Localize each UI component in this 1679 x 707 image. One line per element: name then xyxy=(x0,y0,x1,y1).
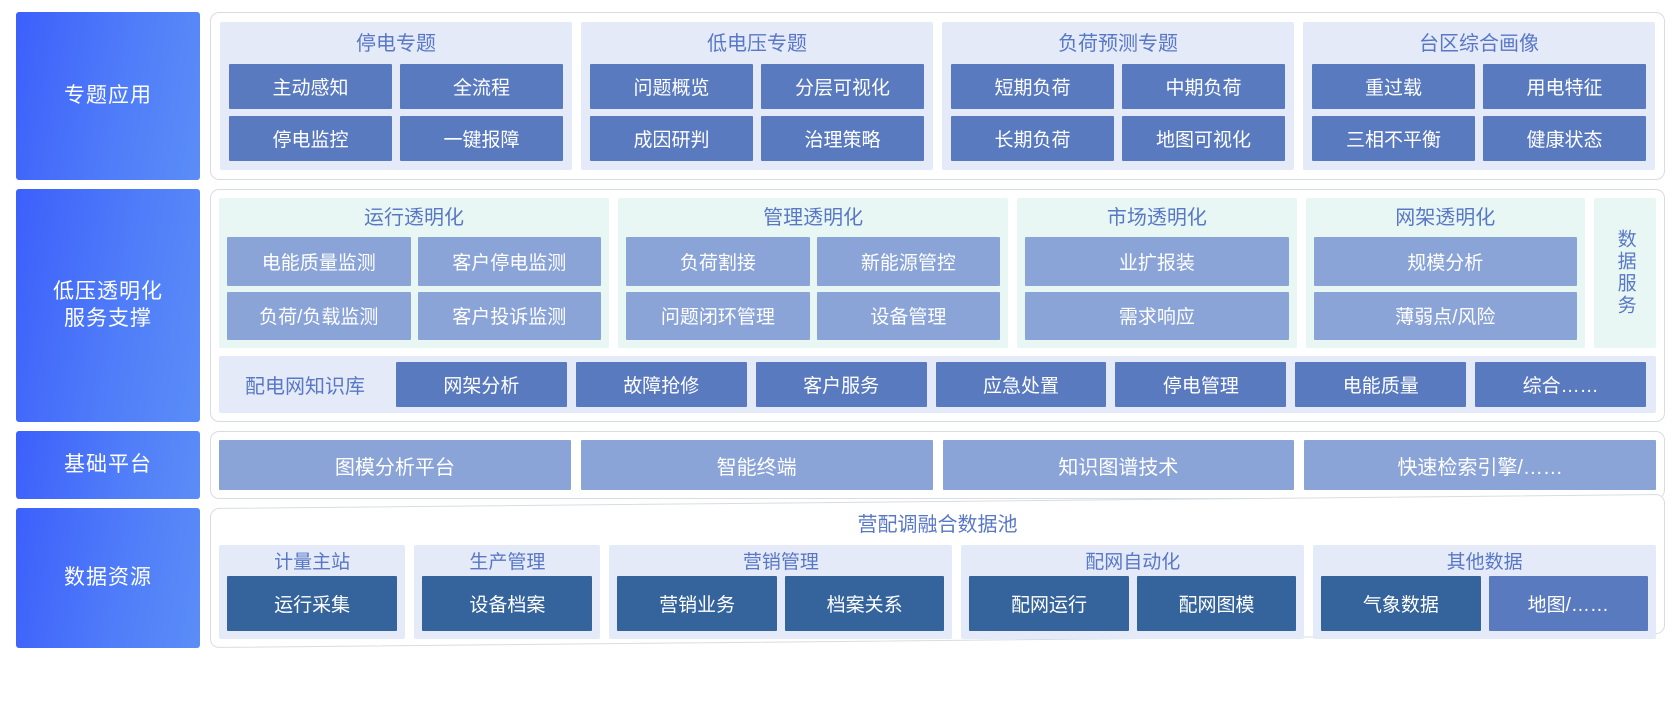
topic-tile[interactable]: 成因研判 xyxy=(590,116,753,161)
data-tile[interactable]: 档案关系 xyxy=(785,576,944,631)
transparency-group-title: 网架透明化 xyxy=(1314,203,1577,233)
transparency-tile[interactable]: 客户投诉监测 xyxy=(418,292,602,341)
data-tile[interactable]: 运行采集 xyxy=(227,576,397,631)
topic-tile-grid: 问题概览 分层可视化 成因研判 治理策略 xyxy=(590,64,924,161)
topic-tile-grid: 短期负荷 中期负荷 长期负荷 地图可视化 xyxy=(951,64,1285,161)
transparency-tile[interactable]: 需求响应 xyxy=(1025,292,1288,341)
transparency-tile-grid: 规模分析 薄弱点/风险 xyxy=(1314,237,1577,340)
layer-body-data-resource: 营配调融合数据池 计量主站 运行采集 生产管理 设备档案 xyxy=(210,508,1665,648)
knowledge-base-tile[interactable]: 客户服务 xyxy=(756,362,927,407)
transparency-tile[interactable]: 业扩报装 xyxy=(1025,237,1288,286)
topic-tile[interactable]: 一键报障 xyxy=(400,116,563,161)
data-group-marketing[interactable]: 营销管理 营销业务 档案关系 xyxy=(609,545,952,639)
transparency-group-title: 管理透明化 xyxy=(626,203,1000,233)
data-tile[interactable]: 配网图模 xyxy=(1137,576,1296,631)
data-group-title: 营销管理 xyxy=(617,549,944,576)
transparency-tile-grid: 业扩报装 需求响应 xyxy=(1025,237,1288,340)
knowledge-base-tile[interactable]: 故障抢修 xyxy=(576,362,747,407)
knowledge-base-tile[interactable]: 应急处置 xyxy=(936,362,1107,407)
data-tile[interactable]: 营销业务 xyxy=(617,576,776,631)
topic-tile[interactable]: 主动感知 xyxy=(229,64,392,109)
transparency-group-row: 运行透明化 电能质量监测 客户停电监测 负荷/负载监测 客户投诉监测 管理透明化… xyxy=(219,198,1656,348)
topic-tile[interactable]: 地图可视化 xyxy=(1122,116,1285,161)
knowledge-base-tile[interactable]: 电能质量 xyxy=(1295,362,1466,407)
architecture-diagram: 专题应用 停电专题 主动感知 全流程 停电监控 一键报障 低电压专题 问题概览 … xyxy=(0,0,1679,707)
data-tile-row: 营销业务 档案关系 xyxy=(617,576,944,631)
data-group-production[interactable]: 生产管理 设备档案 xyxy=(414,545,600,639)
data-tile-row: 气象数据 地图/…… xyxy=(1321,576,1648,631)
data-group-title: 配网自动化 xyxy=(969,549,1296,576)
data-tile[interactable]: 配网运行 xyxy=(969,576,1128,631)
layer-row-platform: 基础平台 图模分析平台 智能终端 知识图谱技术 快速检索引擎/…… xyxy=(16,431,1665,499)
layer-body-transparency-support: 运行透明化 电能质量监测 客户停电监测 负荷/负载监测 客户投诉监测 管理透明化… xyxy=(210,189,1665,422)
knowledge-base-row: 配电网知识库 网架分析 故障抢修 客户服务 应急处置 停电管理 电能质量 综合…… xyxy=(219,356,1656,413)
topic-tile-grid: 主动感知 全流程 停电监控 一键报障 xyxy=(229,64,563,161)
layer-label-topic-application: 专题应用 xyxy=(16,12,200,180)
transparency-group-grid-structure[interactable]: 网架透明化 规模分析 薄弱点/风险 xyxy=(1306,198,1585,348)
transparency-group-management[interactable]: 管理透明化 负荷割接 新能源管控 问题闭环管理 设备管理 xyxy=(618,198,1008,348)
topic-tile[interactable]: 中期负荷 xyxy=(1122,64,1285,109)
data-group-title: 其他数据 xyxy=(1321,549,1648,576)
knowledge-base-tile[interactable]: 网架分析 xyxy=(396,362,567,407)
transparency-group-market[interactable]: 市场透明化 业扩报装 需求响应 xyxy=(1017,198,1296,348)
platform-tile[interactable]: 快速检索引擎/…… xyxy=(1304,440,1656,490)
data-group-title: 生产管理 xyxy=(422,549,592,576)
layer-row-topic-application: 专题应用 停电专题 主动感知 全流程 停电监控 一键报障 低电压专题 问题概览 … xyxy=(16,12,1665,180)
data-group-title: 计量主站 xyxy=(227,549,397,576)
platform-tile[interactable]: 图模分析平台 xyxy=(219,440,571,490)
data-tile[interactable]: 地图/…… xyxy=(1489,576,1648,631)
knowledge-base-tile[interactable]: 停电管理 xyxy=(1115,362,1286,407)
transparency-group-title: 运行透明化 xyxy=(227,203,601,233)
layer-row-transparency-support: 低压透明化 服务支撑 运行透明化 电能质量监测 客户停电监测 负荷/负载监测 客… xyxy=(16,189,1665,422)
topic-tile[interactable]: 停电监控 xyxy=(229,116,392,161)
data-tile-row: 配网运行 配网图模 xyxy=(969,576,1296,631)
topic-group-load-forecast[interactable]: 负荷预测专题 短期负荷 中期负荷 长期负荷 地图可视化 xyxy=(942,22,1294,170)
transparency-tile-grid: 负荷割接 新能源管控 问题闭环管理 设备管理 xyxy=(626,237,1000,340)
data-pool-inner: 营配调融合数据池 计量主站 运行采集 生产管理 设备档案 xyxy=(210,508,1665,648)
topic-tile[interactable]: 问题概览 xyxy=(590,64,753,109)
transparency-tile[interactable]: 规模分析 xyxy=(1314,237,1577,286)
platform-tile[interactable]: 知识图谱技术 xyxy=(943,440,1295,490)
data-tile[interactable]: 气象数据 xyxy=(1321,576,1480,631)
data-tile[interactable]: 设备档案 xyxy=(422,576,592,631)
topic-tile[interactable]: 重过载 xyxy=(1312,64,1475,109)
data-pool-groups: 计量主站 运行采集 生产管理 设备档案 营销管理 xyxy=(219,545,1656,639)
topic-tile[interactable]: 分层可视化 xyxy=(761,64,924,109)
transparency-tile[interactable]: 负荷/负载监测 xyxy=(227,292,411,341)
knowledge-base-label: 配电网知识库 xyxy=(229,370,387,399)
transparency-tile[interactable]: 新能源管控 xyxy=(817,237,1001,286)
topic-tile-grid: 重过载 用电特征 三相不平衡 健康状态 xyxy=(1312,64,1646,161)
topic-tile[interactable]: 用电特征 xyxy=(1483,64,1646,109)
data-group-metering[interactable]: 计量主站 运行采集 xyxy=(219,545,405,639)
topic-group-title: 低电压专题 xyxy=(590,29,924,59)
topic-group-title: 负荷预测专题 xyxy=(951,29,1285,59)
knowledge-base-tile[interactable]: 综合…… xyxy=(1475,362,1646,407)
transparency-tile[interactable]: 客户停电监测 xyxy=(418,237,602,286)
topic-group-station-profile[interactable]: 台区综合画像 重过载 用电特征 三相不平衡 健康状态 xyxy=(1303,22,1655,170)
topic-tile[interactable]: 三相不平衡 xyxy=(1312,116,1475,161)
transparency-tile[interactable]: 设备管理 xyxy=(817,292,1001,341)
layer-body-topic-application: 停电专题 主动感知 全流程 停电监控 一键报障 低电压专题 问题概览 分层可视化… xyxy=(210,12,1665,180)
data-tile-row: 运行采集 xyxy=(227,576,397,631)
layer-row-data-resource: 数据资源 营配调融合数据池 计量主站 运行采集 生产管理 设备档案 xyxy=(16,508,1665,648)
data-tile-row: 设备档案 xyxy=(422,576,592,631)
data-service-column[interactable]: 数据服务 xyxy=(1594,198,1656,348)
topic-tile[interactable]: 治理策略 xyxy=(761,116,924,161)
layer-label-platform: 基础平台 xyxy=(16,431,200,499)
topic-group-title: 台区综合画像 xyxy=(1312,29,1646,59)
transparency-group-title: 市场透明化 xyxy=(1025,203,1288,233)
layer-label-data-resource: 数据资源 xyxy=(16,508,200,648)
transparency-tile[interactable]: 负荷割接 xyxy=(626,237,810,286)
data-pool-title: 营配调融合数据池 xyxy=(219,510,1656,541)
topic-tile[interactable]: 全流程 xyxy=(400,64,563,109)
data-group-distribution-automation[interactable]: 配网自动化 配网运行 配网图模 xyxy=(961,545,1304,639)
layer-body-platform: 图模分析平台 智能终端 知识图谱技术 快速检索引擎/…… xyxy=(210,431,1665,499)
layer-label-transparency-support: 低压透明化 服务支撑 xyxy=(16,189,200,422)
transparency-group-operation[interactable]: 运行透明化 电能质量监测 客户停电监测 负荷/负载监测 客户投诉监测 xyxy=(219,198,609,348)
topic-group-low-voltage[interactable]: 低电压专题 问题概览 分层可视化 成因研判 治理策略 xyxy=(581,22,933,170)
topic-group-outage[interactable]: 停电专题 主动感知 全流程 停电监控 一键报障 xyxy=(220,22,572,170)
topic-group-title: 停电专题 xyxy=(229,29,563,59)
transparency-tile[interactable]: 薄弱点/风险 xyxy=(1314,292,1577,341)
platform-tile[interactable]: 智能终端 xyxy=(581,440,933,490)
transparency-tile[interactable]: 电能质量监测 xyxy=(227,237,411,286)
data-group-other[interactable]: 其他数据 气象数据 地图/…… xyxy=(1313,545,1656,639)
transparency-tile[interactable]: 问题闭环管理 xyxy=(626,292,810,341)
topic-tile[interactable]: 长期负荷 xyxy=(951,116,1114,161)
topic-tile[interactable]: 健康状态 xyxy=(1483,116,1646,161)
topic-tile[interactable]: 短期负荷 xyxy=(951,64,1114,109)
transparency-tile-grid: 电能质量监测 客户停电监测 负荷/负载监测 客户投诉监测 xyxy=(227,237,601,340)
